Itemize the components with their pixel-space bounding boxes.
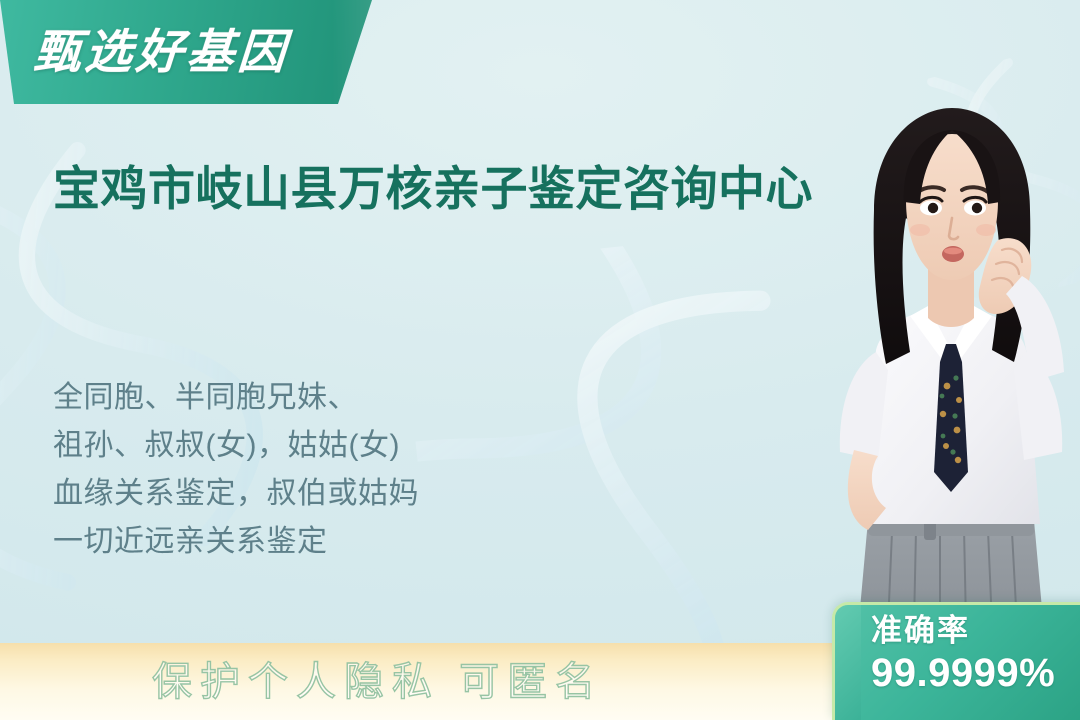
privacy-slogan: 保护个人隐私 可匿名: [152, 662, 603, 702]
description-line: 祖孙、叔叔(女)，姑姑(女): [53, 422, 573, 470]
brand-logo-banner: 甄选好基因: [0, 0, 372, 104]
description-line: 血缘关系鉴定，叔伯或姑妈: [53, 470, 573, 518]
brand-logo-text: 甄选好基因: [32, 29, 290, 76]
promo-poster: 甄选好基因 宝鸡市岐山县万核亲子鉴定咨询中心 全同胞、半同胞兄妹、 祖孙、叔叔(…: [0, 0, 1080, 720]
accuracy-badge: 准确率 99.9999%: [832, 602, 1080, 720]
accuracy-label: 准确率: [871, 615, 1080, 648]
description-line: 全同胞、半同胞兄妹、: [53, 374, 573, 422]
service-description: 全同胞、半同胞兄妹、 祖孙、叔叔(女)，姑姑(女) 血缘关系鉴定，叔伯或姑妈 一…: [53, 374, 573, 566]
description-line: 一切近远亲关系鉴定: [53, 518, 573, 566]
accuracy-value: 99.9999%: [871, 652, 1080, 694]
dna-helix-icon: [901, 48, 1080, 313]
page-title: 宝鸡市岐山县万核亲子鉴定咨询中心: [53, 158, 863, 219]
